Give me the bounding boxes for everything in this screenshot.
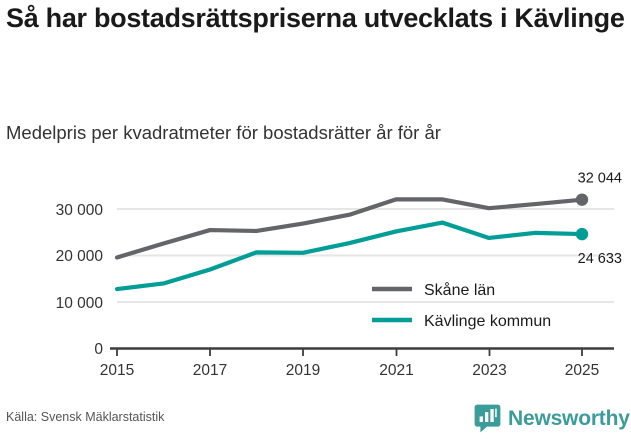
legend-label-skane-lan: Skåne län (424, 281, 495, 299)
brand-name: Newsworthy (508, 408, 630, 429)
x-tick-label-2019: 2019 (286, 362, 320, 379)
legend-label-kavlinge-kommun: Kävlinge kommun (424, 313, 551, 330)
x-tick-label-2023: 2023 (472, 362, 506, 379)
y-tick-label-20000: 20 000 (56, 248, 104, 265)
y-tick-label-0: 0 (94, 341, 103, 358)
y-axis-tick-labels: 30 000 20 000 10 000 0 (56, 202, 104, 358)
y-tick-label-10000: 10 000 (56, 295, 104, 312)
series-endpoint-skane-lan (576, 193, 588, 205)
x-tick-label-2025: 2025 (565, 362, 599, 379)
x-tick-label-2021: 2021 (379, 362, 413, 379)
chart-page: Så har bostadsrättspriserna utvecklats i… (0, 0, 631, 439)
end-value-label-kavlinge-kommun: 24 633 (578, 251, 622, 267)
x-tick-label-2017: 2017 (193, 362, 227, 379)
gridlines (117, 209, 614, 302)
series-endpoint-kavlinge-kommun (576, 228, 588, 240)
y-tick-label-30000: 30 000 (56, 202, 104, 219)
legend: Skåne län Kävlinge kommun (372, 281, 551, 330)
line-chart: 30 000 20 000 10 000 0 2015 2017 2019 20… (0, 0, 631, 439)
end-value-label-skane-lan: 32 044 (578, 171, 622, 187)
source-note: Källa: Svensk Mäklarstatistik (6, 410, 164, 424)
x-tick-label-2015: 2015 (100, 362, 134, 379)
x-axis-tick-labels: 2015 2017 2019 2021 2023 2025 (100, 362, 599, 379)
newsworthy-logo: Newsworthy (474, 404, 630, 433)
bar-chart-bubble-icon (474, 404, 501, 433)
